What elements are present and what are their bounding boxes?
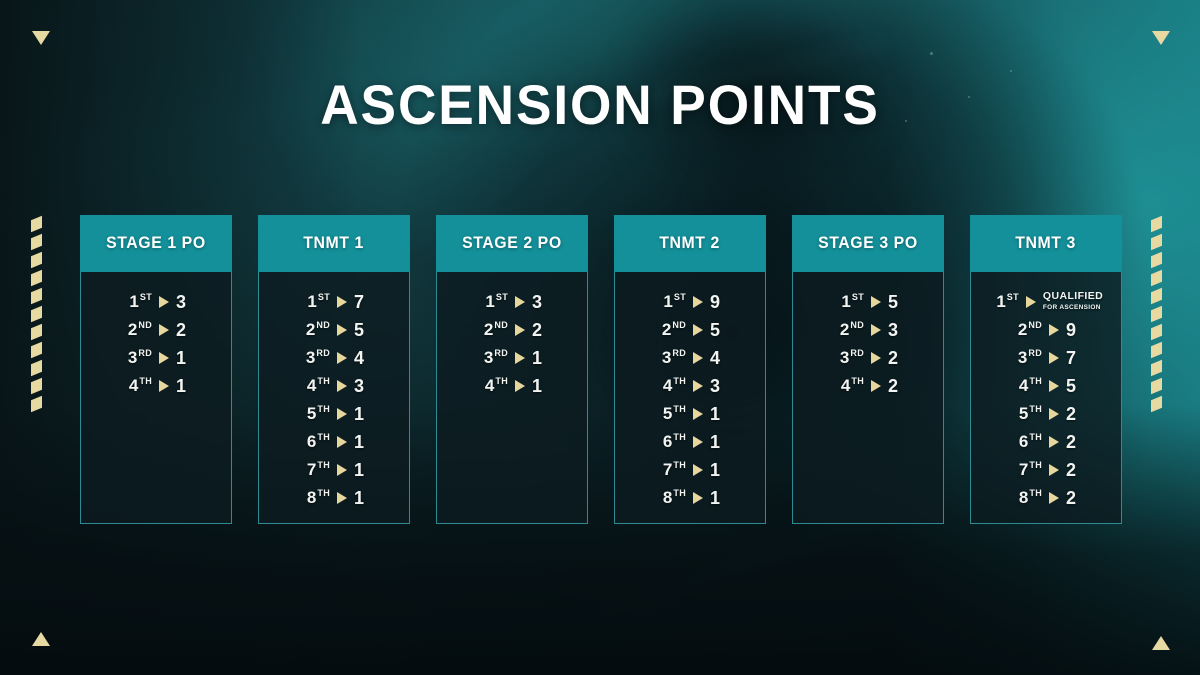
- points-value: 1: [354, 432, 368, 453]
- arrow-right-icon: [693, 464, 703, 476]
- points-row: 1ST3: [81, 288, 231, 316]
- card-title: TNMT 2: [660, 234, 721, 253]
- card-header-stage-2-po: STAGE 2 PO: [436, 215, 588, 272]
- points-row: 3RD7: [971, 344, 1121, 372]
- place-label: 5TH: [300, 404, 330, 424]
- place-ordinal-suffix: ND: [1028, 320, 1042, 330]
- arrow-right-icon: [1049, 464, 1059, 476]
- points-value: 1: [176, 348, 190, 369]
- place-ordinal-suffix: ST: [496, 292, 508, 302]
- place-ordinal-suffix: ND: [316, 320, 330, 330]
- dash-segment: [1151, 324, 1162, 340]
- place-label: 3RD: [656, 348, 686, 368]
- arrow-right-icon: [871, 380, 881, 392]
- place-label: 7TH: [1012, 460, 1042, 480]
- place-ordinal-suffix: TH: [1029, 488, 1042, 498]
- place-number: 5: [1019, 404, 1028, 423]
- points-value: 9: [710, 292, 724, 313]
- place-label: 4TH: [834, 376, 864, 396]
- place-number: 2: [840, 320, 849, 339]
- card-title: STAGE 2 PO: [462, 234, 562, 253]
- dashed-bar-right: [1151, 218, 1162, 410]
- points-row: 5TH1: [259, 400, 409, 428]
- place-number: 7: [663, 460, 672, 479]
- place-number: 1: [307, 292, 316, 311]
- place-number: 3: [484, 348, 493, 367]
- points-card-tnmt-3[interactable]: TNMT 31STQUALIFIEDFOR ASCENSION2ND93RD74…: [970, 215, 1122, 524]
- place-number: 1: [841, 292, 850, 311]
- place-label: 2ND: [300, 320, 330, 340]
- card-body-stage-3-po: 1ST52ND33RD24TH2: [792, 272, 944, 524]
- arrow-right-icon: [515, 352, 525, 364]
- card-header-tnmt-2: TNMT 2: [614, 215, 766, 272]
- place-ordinal-suffix: TH: [673, 488, 686, 498]
- place-ordinal-suffix: TH: [673, 404, 686, 414]
- triangle-down-icon-left: [32, 31, 50, 45]
- points-value: 3: [710, 376, 724, 397]
- dash-segment: [31, 360, 42, 376]
- points-value: 5: [1066, 376, 1080, 397]
- dash-segment: [31, 324, 42, 340]
- points-card-stage-2-po[interactable]: STAGE 2 PO1ST32ND23RD14TH1: [436, 215, 588, 524]
- arrow-right-icon: [1049, 492, 1059, 504]
- qualified-line-2: FOR ASCENSION: [1043, 303, 1101, 313]
- dash-segment: [1151, 378, 1162, 394]
- points-value: 4: [710, 348, 724, 369]
- points-row: 7TH2: [971, 456, 1121, 484]
- place-ordinal-suffix: TH: [317, 488, 330, 498]
- dash-segment: [31, 396, 42, 412]
- place-ordinal-suffix: ST: [852, 292, 864, 302]
- place-ordinal-suffix: TH: [1029, 460, 1042, 470]
- place-label: 7TH: [656, 460, 686, 480]
- place-label: 1ST: [478, 292, 508, 312]
- triangle-up-icon-left: [32, 632, 50, 646]
- points-value: 1: [532, 348, 546, 369]
- dash-segment: [1151, 288, 1162, 304]
- place-number: 8: [663, 488, 672, 507]
- dash-segment: [1151, 306, 1162, 322]
- points-value: 1: [354, 460, 368, 481]
- dash-segment: [31, 306, 42, 322]
- points-row: 3RD1: [437, 344, 587, 372]
- dashed-bar-left: [31, 218, 42, 410]
- arrow-right-icon: [693, 296, 703, 308]
- place-label: 6TH: [1012, 432, 1042, 452]
- points-value: 3: [888, 320, 902, 341]
- place-ordinal-suffix: RD: [850, 348, 864, 358]
- points-row: 7TH1: [615, 456, 765, 484]
- place-ordinal-suffix: ND: [672, 320, 686, 330]
- arrow-right-icon: [1049, 324, 1059, 336]
- points-value: 5: [888, 292, 902, 313]
- place-number: 5: [307, 404, 316, 423]
- points-row: 4TH3: [259, 372, 409, 400]
- place-label: 3RD: [122, 348, 152, 368]
- arrow-right-icon: [871, 324, 881, 336]
- arrow-right-icon: [337, 436, 347, 448]
- points-value: 1: [532, 376, 546, 397]
- place-number: 6: [663, 432, 672, 451]
- place-label: 3RD: [834, 348, 864, 368]
- arrow-right-icon: [1049, 352, 1059, 364]
- slide-root: ASCENSION POINTS STAGE 1 PO1ST32ND23RD14…: [0, 0, 1200, 675]
- arrow-right-icon: [693, 380, 703, 392]
- place-number: 3: [128, 348, 137, 367]
- place-label: 2ND: [122, 320, 152, 340]
- place-ordinal-suffix: RD: [138, 348, 152, 358]
- arrow-right-icon: [1049, 380, 1059, 392]
- place-label: 2ND: [478, 320, 508, 340]
- card-title: STAGE 1 PO: [106, 234, 206, 253]
- dash-segment: [31, 288, 42, 304]
- points-row: 7TH1: [259, 456, 409, 484]
- place-label: 3RD: [300, 348, 330, 368]
- points-value: 5: [710, 320, 724, 341]
- triangle-up-icon-right: [1152, 636, 1170, 650]
- dash-segment: [31, 270, 42, 286]
- points-row: 1ST7: [259, 288, 409, 316]
- arrow-right-icon: [515, 380, 525, 392]
- points-card-stage-3-po[interactable]: STAGE 3 PO1ST52ND33RD24TH2: [792, 215, 944, 524]
- place-label: 1ST: [122, 292, 152, 312]
- place-number: 1: [996, 292, 1005, 311]
- place-number: 2: [306, 320, 315, 339]
- place-number: 3: [1018, 348, 1027, 367]
- card-header-tnmt-3: TNMT 3: [970, 215, 1122, 272]
- triangle-down-icon-right: [1152, 31, 1170, 45]
- arrow-right-icon: [337, 380, 347, 392]
- place-number: 7: [307, 460, 316, 479]
- points-value: 2: [1066, 488, 1080, 509]
- card-title: TNMT 1: [304, 234, 365, 253]
- place-ordinal-suffix: ND: [138, 320, 152, 330]
- points-value: 2: [1066, 460, 1080, 481]
- place-label: 8TH: [1012, 488, 1042, 508]
- points-value: 1: [176, 376, 190, 397]
- place-ordinal-suffix: ND: [850, 320, 864, 330]
- points-value: 2: [532, 320, 546, 341]
- place-number: 2: [128, 320, 137, 339]
- dash-segment: [1151, 270, 1162, 286]
- points-value: 2: [176, 320, 190, 341]
- place-number: 4: [841, 376, 850, 395]
- arrow-right-icon: [871, 352, 881, 364]
- place-label: 8TH: [656, 488, 686, 508]
- dash-segment: [1151, 252, 1162, 268]
- points-row: 2ND5: [259, 316, 409, 344]
- arrow-right-icon: [159, 324, 169, 336]
- card-header-tnmt-1: TNMT 1: [258, 215, 410, 272]
- arrow-right-icon: [337, 324, 347, 336]
- place-label: 1ST: [989, 292, 1019, 312]
- place-label: 6TH: [656, 432, 686, 452]
- points-row: 8TH2: [971, 484, 1121, 512]
- points-row: 6TH1: [615, 428, 765, 456]
- place-ordinal-suffix: TH: [317, 376, 330, 386]
- points-row: 6TH1: [259, 428, 409, 456]
- arrow-right-icon: [693, 436, 703, 448]
- dash-segment: [31, 378, 42, 394]
- points-row: 1STQUALIFIEDFOR ASCENSION: [971, 288, 1121, 316]
- points-card-tnmt-2[interactable]: TNMT 21ST92ND53RD44TH35TH16TH17TH18TH1: [614, 215, 766, 524]
- place-number: 3: [840, 348, 849, 367]
- place-number: 5: [663, 404, 672, 423]
- arrow-right-icon: [1049, 408, 1059, 420]
- points-row: 2ND5: [615, 316, 765, 344]
- place-ordinal-suffix: TH: [851, 376, 864, 386]
- points-value: 4: [354, 348, 368, 369]
- card-body-tnmt-3: 1STQUALIFIEDFOR ASCENSION2ND93RD74TH55TH…: [970, 272, 1122, 524]
- points-row: 6TH2: [971, 428, 1121, 456]
- points-value: 7: [1066, 348, 1080, 369]
- arrow-right-icon: [337, 492, 347, 504]
- dash-segment: [31, 252, 42, 268]
- place-number: 4: [1019, 376, 1028, 395]
- qualified-line-1: QUALIFIED: [1043, 291, 1103, 301]
- place-label: 3RD: [1012, 348, 1042, 368]
- place-ordinal-suffix: TH: [139, 376, 152, 386]
- points-value: 1: [710, 432, 724, 453]
- card-body-tnmt-2: 1ST92ND53RD44TH35TH16TH17TH18TH1: [614, 272, 766, 524]
- points-value: 5: [354, 320, 368, 341]
- dash-segment: [1151, 360, 1162, 376]
- place-number: 6: [1019, 432, 1028, 451]
- points-value: 1: [710, 404, 724, 425]
- place-number: 3: [662, 348, 671, 367]
- place-number: 2: [662, 320, 671, 339]
- place-number: 2: [484, 320, 493, 339]
- place-number: 4: [485, 376, 494, 395]
- place-ordinal-suffix: TH: [1029, 404, 1042, 414]
- points-row: 1ST5: [793, 288, 943, 316]
- points-row: 4TH1: [437, 372, 587, 400]
- points-value: 3: [532, 292, 546, 313]
- points-row: 4TH5: [971, 372, 1121, 400]
- place-label: 4TH: [478, 376, 508, 396]
- points-row: 3RD1: [81, 344, 231, 372]
- points-value: 1: [354, 404, 368, 425]
- place-number: 8: [307, 488, 316, 507]
- place-label: 4TH: [1012, 376, 1042, 396]
- place-ordinal-suffix: TH: [317, 460, 330, 470]
- place-label: 7TH: [300, 460, 330, 480]
- card-header-stage-3-po: STAGE 3 PO: [792, 215, 944, 272]
- arrow-right-icon: [337, 464, 347, 476]
- points-row: 8TH1: [259, 484, 409, 512]
- place-label: 1ST: [656, 292, 686, 312]
- points-value: 2: [1066, 432, 1080, 453]
- place-ordinal-suffix: RD: [316, 348, 330, 358]
- points-row: 2ND9: [971, 316, 1121, 344]
- points-value: QUALIFIEDFOR ASCENSION: [1043, 291, 1103, 313]
- page-title: ASCENSION POINTS: [30, 72, 1170, 137]
- place-label: 5TH: [1012, 404, 1042, 424]
- card-title: STAGE 3 PO: [818, 234, 918, 253]
- place-label: 6TH: [300, 432, 330, 452]
- place-number: 1: [129, 292, 138, 311]
- place-label: 3RD: [478, 348, 508, 368]
- place-ordinal-suffix: TH: [673, 432, 686, 442]
- points-card-tnmt-1[interactable]: TNMT 11ST72ND53RD44TH35TH16TH17TH18TH1: [258, 215, 410, 524]
- dash-segment: [1151, 216, 1162, 232]
- place-label: 5TH: [656, 404, 686, 424]
- points-cards-container: STAGE 1 PO1ST32ND23RD14TH1TNMT 11ST72ND5…: [80, 215, 1128, 527]
- place-label: 1ST: [300, 292, 330, 312]
- place-ordinal-suffix: TH: [673, 460, 686, 470]
- place-ordinal-suffix: TH: [1029, 376, 1042, 386]
- place-ordinal-suffix: RD: [672, 348, 686, 358]
- points-row: 2ND2: [81, 316, 231, 344]
- dash-segment: [1151, 234, 1162, 250]
- points-value: 1: [710, 488, 724, 509]
- arrow-right-icon: [515, 324, 525, 336]
- place-label: 4TH: [122, 376, 152, 396]
- card-title: TNMT 3: [1016, 234, 1077, 253]
- place-label: 2ND: [834, 320, 864, 340]
- points-row: 4TH1: [81, 372, 231, 400]
- arrow-right-icon: [1026, 296, 1036, 308]
- place-number: 1: [663, 292, 672, 311]
- place-number: 6: [307, 432, 316, 451]
- arrow-right-icon: [337, 296, 347, 308]
- place-ordinal-suffix: ST: [140, 292, 152, 302]
- points-row: 4TH2: [793, 372, 943, 400]
- place-label: 4TH: [300, 376, 330, 396]
- place-ordinal-suffix: ST: [674, 292, 686, 302]
- card-body-stage-2-po: 1ST32ND23RD14TH1: [436, 272, 588, 524]
- place-label: 1ST: [834, 292, 864, 312]
- place-number: 8: [1019, 488, 1028, 507]
- arrow-right-icon: [159, 296, 169, 308]
- dash-segment: [1151, 342, 1162, 358]
- place-ordinal-suffix: ND: [494, 320, 508, 330]
- points-value: 7: [354, 292, 368, 313]
- arrow-right-icon: [693, 324, 703, 336]
- place-ordinal-suffix: TH: [1029, 432, 1042, 442]
- place-ordinal-suffix: RD: [494, 348, 508, 358]
- dash-segment: [1151, 396, 1162, 412]
- points-value: 3: [354, 376, 368, 397]
- place-number: 7: [1019, 460, 1028, 479]
- points-value: 9: [1066, 320, 1080, 341]
- arrow-right-icon: [159, 352, 169, 364]
- place-label: 8TH: [300, 488, 330, 508]
- card-body-stage-1-po: 1ST32ND23RD14TH1: [80, 272, 232, 524]
- points-row: 8TH1: [615, 484, 765, 512]
- arrow-right-icon: [337, 352, 347, 364]
- place-number: 1: [485, 292, 494, 311]
- dash-segment: [31, 234, 42, 250]
- arrow-right-icon: [159, 380, 169, 392]
- card-header-stage-1-po: STAGE 1 PO: [80, 215, 232, 272]
- arrow-right-icon: [693, 408, 703, 420]
- points-value: 3: [176, 292, 190, 313]
- points-value: 1: [354, 488, 368, 509]
- points-card-stage-1-po[interactable]: STAGE 1 PO1ST32ND23RD14TH1: [80, 215, 232, 524]
- place-label: 2ND: [1012, 320, 1042, 340]
- place-number: 4: [663, 376, 672, 395]
- arrow-right-icon: [871, 296, 881, 308]
- points-row: 1ST9: [615, 288, 765, 316]
- place-ordinal-suffix: TH: [317, 432, 330, 442]
- place-number: 3: [306, 348, 315, 367]
- points-row: 3RD4: [615, 344, 765, 372]
- card-body-tnmt-1: 1ST72ND53RD44TH35TH16TH17TH18TH1: [258, 272, 410, 524]
- arrow-right-icon: [515, 296, 525, 308]
- arrow-right-icon: [1049, 436, 1059, 448]
- place-number: 2: [1018, 320, 1027, 339]
- dash-segment: [31, 216, 42, 232]
- arrow-right-icon: [693, 492, 703, 504]
- points-row: 3RD4: [259, 344, 409, 372]
- place-number: 4: [307, 376, 316, 395]
- dash-segment: [31, 342, 42, 358]
- place-ordinal-suffix: TH: [673, 376, 686, 386]
- place-label: 4TH: [656, 376, 686, 396]
- place-ordinal-suffix: TH: [317, 404, 330, 414]
- arrow-right-icon: [693, 352, 703, 364]
- place-label: 2ND: [656, 320, 686, 340]
- points-row: 4TH3: [615, 372, 765, 400]
- arrow-right-icon: [337, 408, 347, 420]
- points-row: 3RD2: [793, 344, 943, 372]
- place-ordinal-suffix: ST: [1007, 292, 1019, 302]
- points-row: 1ST3: [437, 288, 587, 316]
- points-value: 1: [710, 460, 724, 481]
- place-ordinal-suffix: TH: [495, 376, 508, 386]
- place-ordinal-suffix: ST: [318, 292, 330, 302]
- place-number: 4: [129, 376, 138, 395]
- place-ordinal-suffix: RD: [1028, 348, 1042, 358]
- points-row: 5TH1: [615, 400, 765, 428]
- points-value: 2: [888, 348, 902, 369]
- points-row: 2ND3: [793, 316, 943, 344]
- points-row: 2ND2: [437, 316, 587, 344]
- points-value: 2: [1066, 404, 1080, 425]
- points-value: 2: [888, 376, 902, 397]
- points-row: 5TH2: [971, 400, 1121, 428]
